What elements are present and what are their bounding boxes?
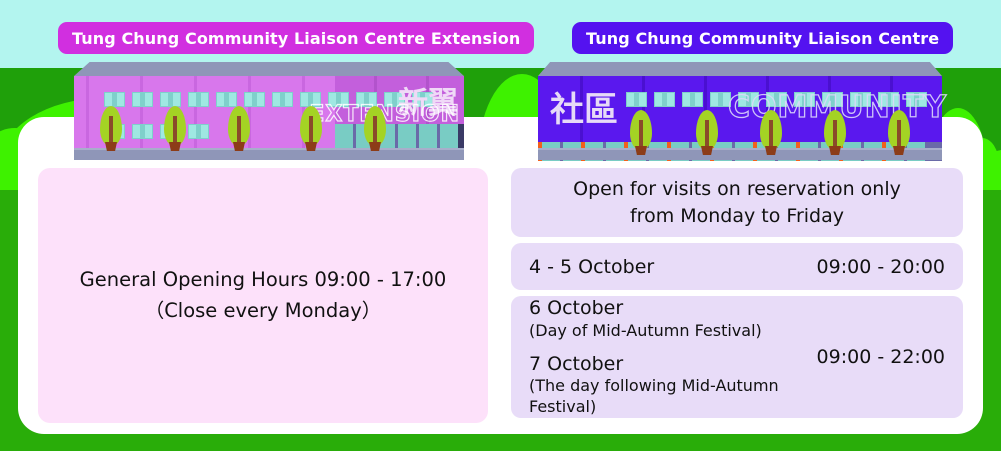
- window: [160, 92, 181, 107]
- planter-tree: [364, 106, 386, 151]
- planter-tree: [696, 110, 718, 155]
- window: [682, 92, 703, 107]
- general-hours-line1: General Opening Hours 09:00 - 17:00: [80, 268, 447, 291]
- general-hours-line2: （Close every Monday）: [80, 296, 447, 326]
- planter-tree: [164, 106, 186, 151]
- extension-centre-label: Tung Chung Community Liaison Centre Exte…: [58, 22, 534, 54]
- window: [216, 92, 237, 107]
- planter-tree: [888, 110, 910, 155]
- general-hours-panel: General Opening Hours 09:00 - 17:00 （Clo…: [38, 168, 488, 423]
- planter-tree: [300, 106, 322, 151]
- community-building: 社區 COMMUNITY: [538, 62, 942, 160]
- window: [626, 92, 647, 107]
- community-roof: [538, 62, 942, 76]
- community-sign-chinese: 社區: [550, 82, 618, 131]
- window: [654, 92, 675, 107]
- festival-time: 09:00 - 22:00: [817, 346, 945, 368]
- reservation-notice-line1: Open for visits on reservation only: [573, 176, 901, 203]
- window: [188, 124, 209, 139]
- general-hours-text: General Opening Hours 09:00 - 17:00 （Clo…: [80, 265, 447, 325]
- schedule-row: 4 - 5 October 09:00 - 20:00: [511, 243, 963, 290]
- reservation-notice-panel: Open for visits on reservation only from…: [511, 168, 963, 237]
- window: [104, 92, 125, 107]
- reservation-notice-line2: from Monday to Friday: [630, 203, 844, 230]
- extension-plinth: [74, 148, 464, 160]
- visit-hours-column: Open for visits on reservation only from…: [511, 168, 963, 424]
- window: [272, 92, 293, 107]
- extension-shopfront: [335, 124, 464, 148]
- window: [244, 92, 265, 107]
- poster-canvas: 新翼 EXTENSION: [0, 0, 1001, 451]
- extension-building: 新翼 EXTENSION: [74, 62, 464, 160]
- planter-tree: [630, 110, 652, 155]
- schedule-row-date: 4 - 5 October: [529, 256, 654, 278]
- community-plinth: [538, 148, 942, 160]
- planter-tree: [100, 106, 122, 151]
- window: [132, 124, 153, 139]
- planter-tree: [228, 106, 250, 151]
- festival-date-2: 7 October: [529, 352, 817, 377]
- festival-schedule-panel: 6 October (Day of Mid-Autumn Festival) 7…: [511, 296, 963, 418]
- schedule-row-time: 09:00 - 20:00: [817, 256, 945, 278]
- extension-roof: [74, 62, 464, 76]
- festival-date-2-note: (The day following Mid-Autumn Festival): [529, 376, 817, 418]
- community-centre-label: Tung Chung Community Liaison Centre: [572, 22, 953, 54]
- planter-tree: [824, 110, 846, 155]
- facade-stripe: [86, 76, 89, 148]
- festival-date-1: 6 October: [529, 296, 817, 321]
- window: [132, 92, 153, 107]
- planter-tree: [760, 110, 782, 155]
- festival-dates: 6 October (Day of Mid-Autumn Festival) 7…: [529, 296, 817, 418]
- window: [188, 92, 209, 107]
- festival-date-1-note: (Day of Mid-Autumn Festival): [529, 321, 817, 342]
